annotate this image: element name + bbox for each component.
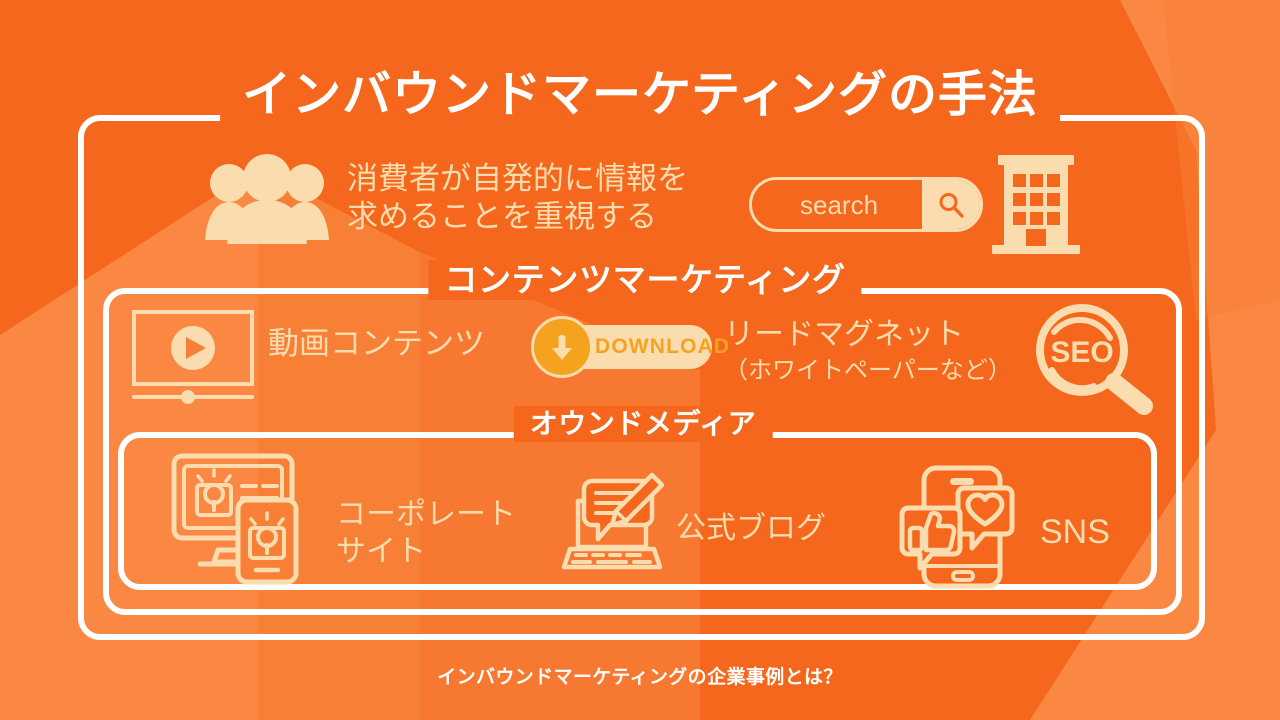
people-group-icon <box>205 152 329 244</box>
phone-social-icon <box>898 466 1016 588</box>
magnifier-icon <box>936 190 966 220</box>
consumer-statement-row: 消費者が自発的に情報を 求めることを重視する <box>205 152 688 244</box>
lead-magnet-text-block: リードマグネット （ホワイトペーパーなど） <box>724 316 1012 388</box>
item-label-video: 動画コンテンツ <box>268 325 485 363</box>
office-building-icon <box>986 149 1086 255</box>
search-bar[interactable]: search <box>749 177 983 232</box>
monitor-phone-icon <box>172 452 320 584</box>
download-badge-label: DOWNLOAD <box>595 336 730 358</box>
section-title-content-marketing: コンテンツマーケティング <box>428 260 861 300</box>
footer-caption: インバウンドマーケティングの企業事例とは？ <box>0 662 1280 689</box>
item-sublabel-lead-magnet: （ホワイトペーパーなど） <box>724 354 1012 388</box>
infographic-canvas: インバウンドマーケティングの手法 コンテンツマーケティング オウンドメディア 消… <box>0 0 1280 720</box>
download-arrow-icon <box>531 316 593 378</box>
item-label-official-blog: 公式ブログ <box>676 511 826 548</box>
laptop-pencil-icon <box>560 473 664 573</box>
page-title: インバウンドマーケティングの手法 <box>220 66 1060 124</box>
seo-icon-text: SEO <box>1050 336 1113 369</box>
search-input-value: search <box>800 191 878 219</box>
item-label-sns: SNS <box>1040 512 1110 553</box>
consumer-statement-text: 消費者が自発的に情報を 求めることを重視する <box>347 160 688 236</box>
search-input[interactable]: search <box>752 180 922 229</box>
seo-magnifier-icon: SEO <box>1030 302 1160 417</box>
video-player-icon <box>132 310 254 402</box>
item-label-corporate-site: コーポレート サイト <box>336 497 516 570</box>
search-button[interactable] <box>922 180 980 229</box>
item-label-lead-magnet: リードマグネット <box>724 316 1012 354</box>
section-title-owned-media: オウンドメディア <box>514 406 773 442</box>
